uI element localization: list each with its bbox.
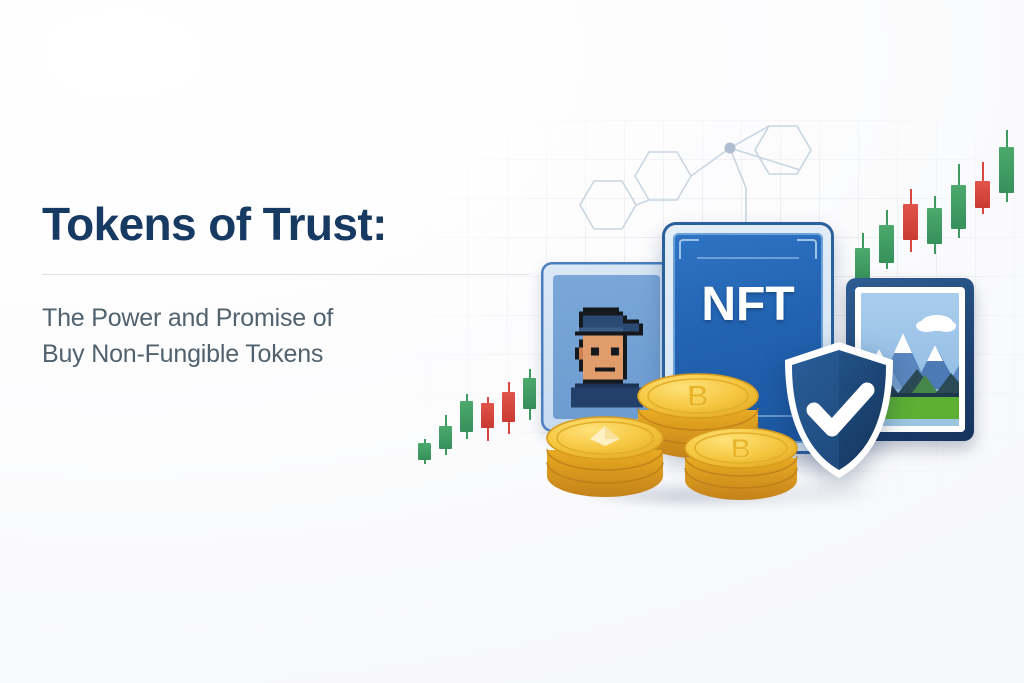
candle-body [418, 443, 431, 460]
candle-body [460, 401, 473, 433]
svg-text:B: B [687, 380, 709, 413]
corner-ornament-icon [797, 239, 817, 259]
candlestick-7 [999, 110, 1014, 290]
candlestick-1 [855, 110, 870, 290]
candlestick-5 [951, 110, 966, 290]
candle-body [999, 147, 1014, 193]
page-title: Tokens of Trust: [42, 200, 542, 248]
candle-body [927, 208, 942, 244]
candle-body [481, 403, 494, 428]
candlestick-2 [439, 330, 452, 470]
candlestick-3 [903, 110, 918, 290]
nft-label: NFT [673, 277, 823, 332]
ethereum-coin-stack [542, 404, 668, 514]
candlestick-6 [523, 330, 536, 470]
candlestick-6 [975, 110, 990, 290]
candlestick-1 [418, 330, 431, 470]
candlestick-4 [927, 110, 942, 290]
candle-body [879, 225, 894, 263]
candle-body [502, 392, 515, 421]
candle-body [903, 204, 918, 240]
title-divider [42, 274, 529, 275]
svg-text:B: B [731, 433, 751, 464]
candlestick-5 [502, 330, 515, 470]
candle-body [951, 185, 966, 229]
nft-divider-top [697, 257, 799, 259]
bitcoin-coin-stack-front: B [680, 416, 802, 518]
hero-banner: Tokens of Trust: The Power and Promise o… [0, 0, 1024, 683]
right-candlestick-chart [855, 110, 1015, 290]
candlestick-2 [879, 110, 894, 290]
candlestick-4 [481, 330, 494, 470]
hex-network-node [725, 143, 736, 154]
candle-body [439, 426, 452, 449]
candle-body [975, 181, 990, 208]
candlestick-3 [460, 330, 473, 470]
corner-ornament-icon [679, 239, 699, 259]
candle-body [855, 248, 870, 282]
candle-body [523, 378, 536, 410]
